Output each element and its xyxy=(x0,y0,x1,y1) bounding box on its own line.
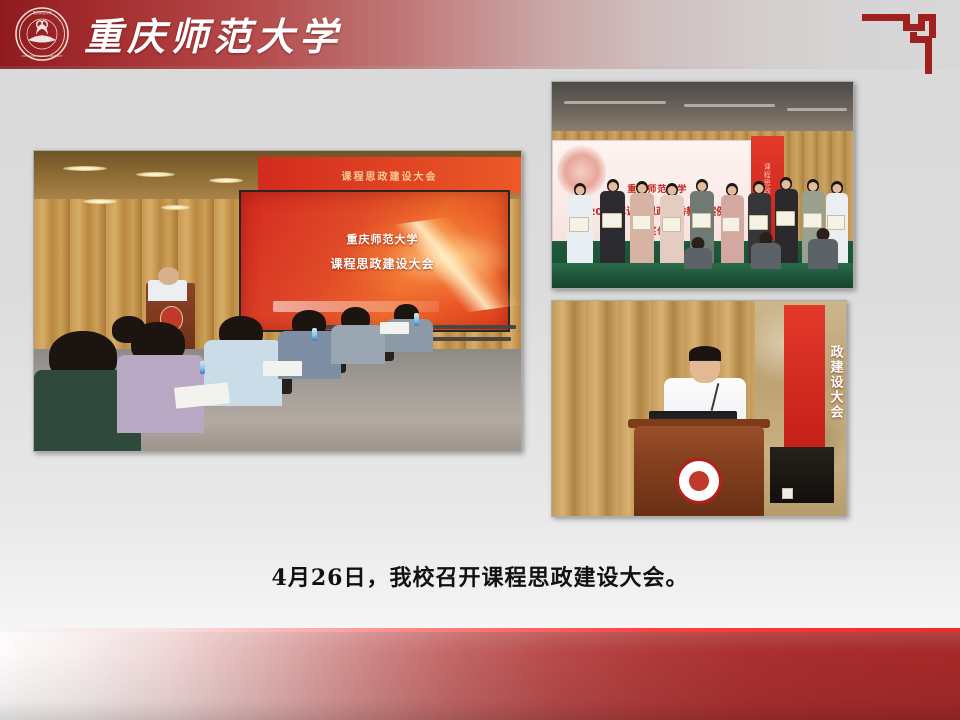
person-face xyxy=(832,184,841,193)
person-face xyxy=(576,186,585,195)
audience-body xyxy=(331,325,385,364)
person-body xyxy=(630,193,654,270)
award-ceremony-photo[interactable]: 重庆师范大学 2022年课程思政优秀教学案例 颁奖仪式 课程思政建设大会 xyxy=(551,81,854,289)
award-recipient xyxy=(660,183,684,270)
person-face xyxy=(608,182,617,191)
person-body xyxy=(567,195,593,270)
wall-switch xyxy=(782,488,793,499)
glasses-icon xyxy=(692,360,718,367)
award-ceiling xyxy=(552,82,853,131)
ceiling-light xyxy=(83,199,117,204)
hall-led-screen: 重庆师范大学 课程思政建设大会 xyxy=(239,190,511,332)
svg-text:CHONGQING NORMAL UNIVERSITY: CHONGQING NORMAL UNIVERSITY xyxy=(21,55,63,58)
person-body xyxy=(600,191,625,270)
podium xyxy=(634,426,763,516)
ceiling-light xyxy=(136,172,175,177)
award-recipient xyxy=(630,181,654,270)
svg-text:重庆师范大学: 重庆师范大学 xyxy=(32,10,51,15)
paper-sheet xyxy=(380,322,409,334)
person-body xyxy=(751,243,781,269)
university-emblem-icon xyxy=(676,458,722,504)
certificate xyxy=(692,213,711,228)
paper-sheet xyxy=(263,361,302,376)
speaker-hair xyxy=(689,346,721,361)
speaker-podium-photo[interactable]: 政建设大会 xyxy=(551,300,847,517)
ceiling-strip xyxy=(564,101,666,104)
bottom-band xyxy=(0,632,960,720)
conference-hall-scene: 课程思政建设大会 重庆师范大学 课程思政建设大会 xyxy=(34,151,521,451)
person-face xyxy=(782,180,791,189)
person-face xyxy=(809,182,818,191)
screen-line-1: 重庆师范大学 xyxy=(278,231,487,247)
person-face xyxy=(728,186,737,195)
main-conference-photo[interactable]: 课程思政建设大会 重庆师范大学 课程思政建设大会 xyxy=(33,150,522,452)
person-face xyxy=(638,184,647,193)
award-recipient xyxy=(567,183,593,270)
person-body xyxy=(808,239,838,269)
ceiling-light xyxy=(63,166,107,171)
person-body xyxy=(660,195,684,270)
certificate xyxy=(632,215,651,230)
certificate xyxy=(803,213,822,228)
speaker-red-banner xyxy=(784,305,825,456)
certificate xyxy=(776,211,795,226)
speaker-podium-scene: 政建设大会 xyxy=(552,301,846,516)
seated-attendee xyxy=(684,237,712,270)
certificate xyxy=(662,217,681,232)
screen-line-2: 课程思政建设大会 xyxy=(278,255,487,272)
ceiling-strip xyxy=(684,104,774,107)
seated-attendee xyxy=(751,232,781,269)
person-body xyxy=(684,248,712,270)
page-title: 重庆师范大学 xyxy=(84,4,342,62)
person-face xyxy=(668,186,677,195)
award-recipient xyxy=(600,179,625,270)
presentation-slide: 重庆师范大学 CHONGQING NORMAL UNIVERSITY 重庆师范大… xyxy=(0,0,960,720)
person-face xyxy=(698,182,707,191)
chinese-corner-ornament-icon-top-right xyxy=(862,8,942,74)
certificate xyxy=(749,215,768,230)
hall-top-banner-text: 课程思政建设大会 xyxy=(258,157,521,193)
audience-head xyxy=(112,316,146,343)
header-underline xyxy=(0,66,960,69)
certificate xyxy=(722,217,741,232)
person-body xyxy=(721,195,744,270)
water-bottle xyxy=(414,313,419,326)
water-bottle xyxy=(312,328,317,341)
certificate xyxy=(569,217,590,232)
certificate xyxy=(602,213,622,228)
hall-top-banner: 课程思政建设大会 xyxy=(258,157,521,193)
speaker-banner-text: 政建设大会 xyxy=(821,305,845,460)
slide-caption: 4月26日，我校召开课程思政建设大会。 xyxy=(0,560,960,592)
university-seal-icon: 重庆师范大学 CHONGQING NORMAL UNIVERSITY xyxy=(14,6,70,62)
award-ceremony-scene: 重庆师范大学 2022年课程思政优秀教学案例 颁奖仪式 课程思政建设大会 xyxy=(552,82,853,288)
hall-speaker-head xyxy=(158,267,178,285)
seated-attendee xyxy=(808,228,838,269)
water-bottle xyxy=(200,361,205,374)
award-recipient xyxy=(721,183,744,270)
speaker-dark-panel xyxy=(770,447,835,503)
ceiling-strip xyxy=(787,108,847,111)
ceiling-light xyxy=(161,205,190,210)
person-face xyxy=(755,184,764,193)
